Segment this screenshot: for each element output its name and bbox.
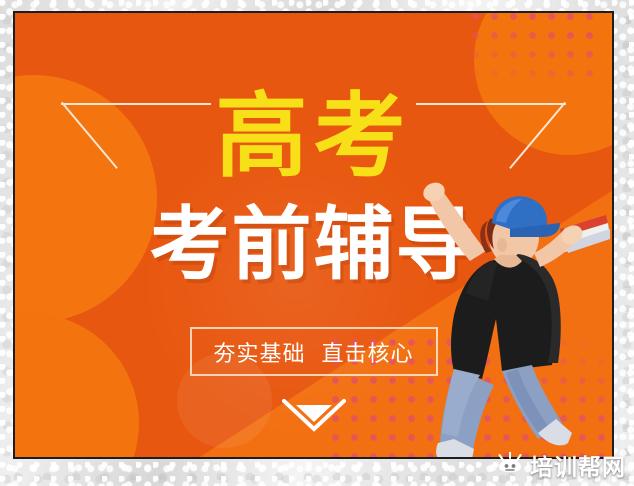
watermark-label: 培训帮网 bbox=[530, 448, 626, 482]
poster-frame: 高考 考前辅导 夯实基础 直击核心 bbox=[13, 11, 614, 459]
watermark: 培训帮网 bbox=[497, 448, 626, 482]
dot-grid-top-right-icon bbox=[466, 13, 602, 85]
sunburst-eye-icon bbox=[497, 452, 523, 479]
poster-screenshot: 高考 考前辅导 夯实基础 直击核心 bbox=[0, 0, 634, 486]
subtitle-box: 夯实基础 直击核心 bbox=[190, 327, 438, 376]
poster-canvas: 高考 考前辅导 夯实基础 直击核心 bbox=[15, 13, 612, 457]
subtitle-text: 夯实基础 直击核心 bbox=[214, 336, 414, 368]
chevron-down-icon bbox=[282, 399, 346, 438]
jumping-student-illustration bbox=[410, 157, 610, 457]
